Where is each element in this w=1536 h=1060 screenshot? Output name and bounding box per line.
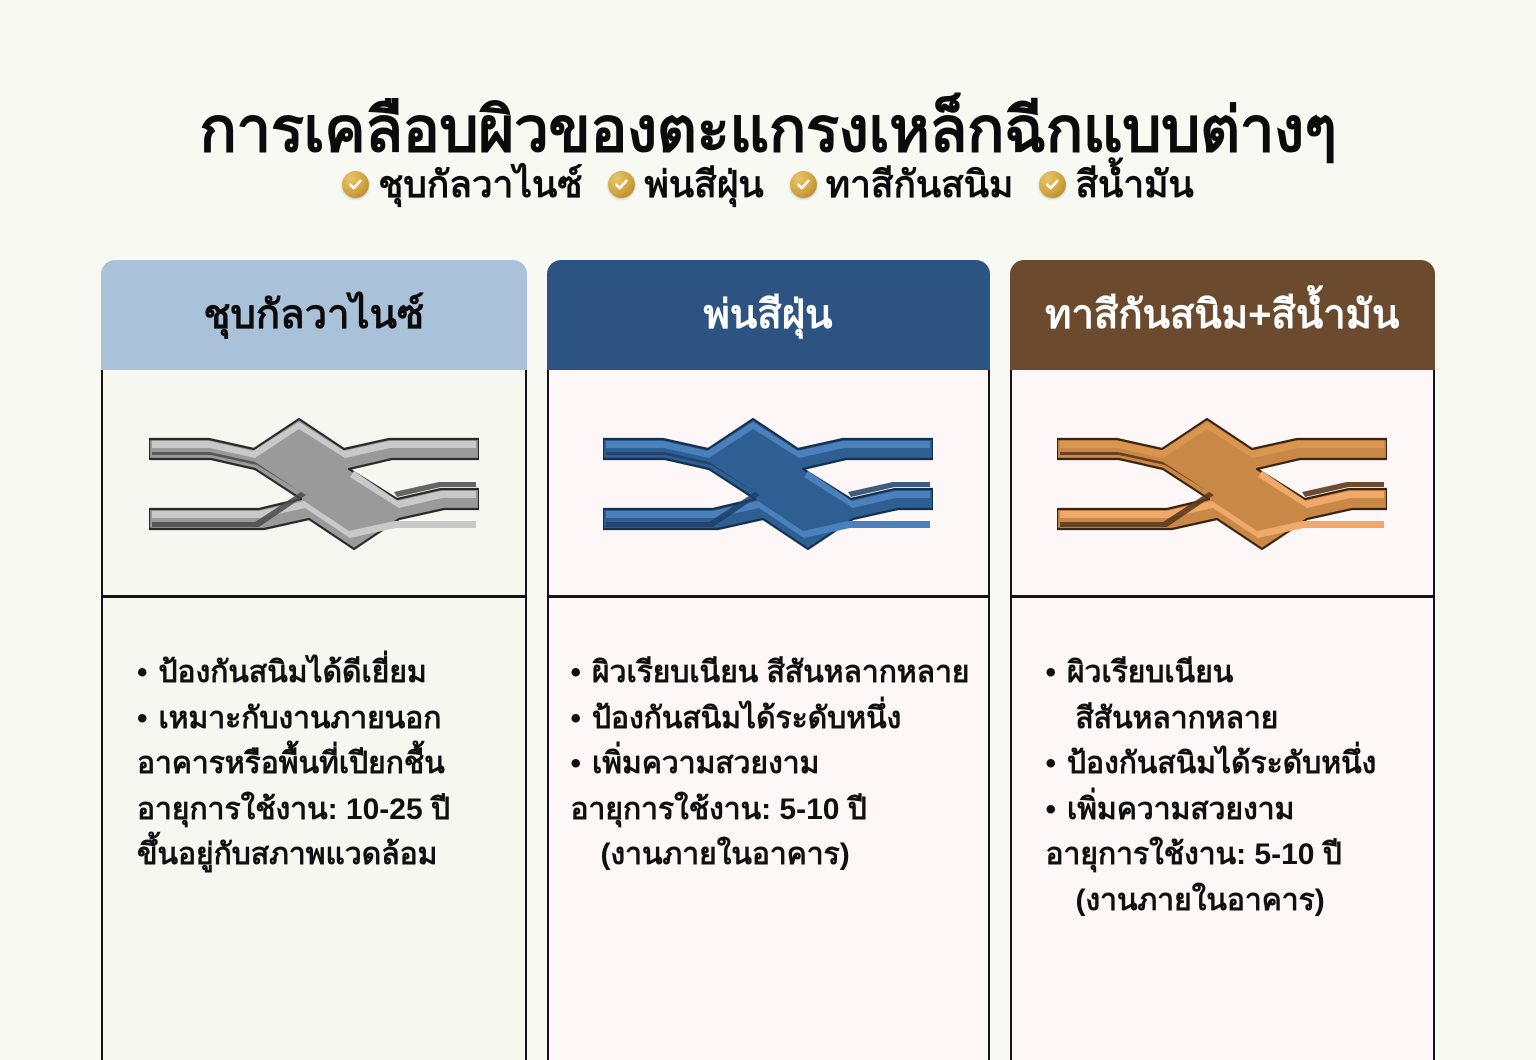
mesh-illustration-pane (1012, 370, 1434, 598)
expanded-metal-mesh-icon (603, 395, 933, 570)
subtitle-chip-label: ชุบกัลวาไนซ์ (378, 166, 582, 203)
subtitle-chip-label: สีน้ำมัน (1075, 166, 1193, 203)
mesh-illustration-pane (103, 370, 525, 598)
subtitle-chip-oil-paint: สีน้ำมัน (1039, 166, 1193, 203)
coating-card-anti-rust-oil-paint[interactable]: ทาสีกันสนิม+สีน้ำมัน (1010, 260, 1436, 1060)
card-text-pane: ผิวเรียบเนียน สีสันหลากหลาย ป้องกันสนิมไ… (549, 598, 988, 1060)
bullet-item: ป้องกันสนิมได้ดีเยี่ยม (137, 650, 507, 696)
lifespan-line: อายุการใช้งาน: 5-10 ปี (571, 787, 970, 833)
expanded-metal-mesh-icon (149, 395, 479, 570)
coating-card-grid: ชุบกัลวาไนซ์ (101, 260, 1435, 1060)
bullet-item: ป้องกันสนิมได้ระดับหนึ่ง (1046, 741, 1416, 787)
expanded-metal-mesh-icon (1057, 395, 1387, 570)
page-title: การเคลือบผิวของตะแกรงเหล็กฉีกแบบต่างๆ (0, 98, 1536, 163)
card-header-title: ทาสีกันสนิม+สีน้ำมัน (1045, 295, 1399, 335)
lifespan-line: อายุการใช้งาน: 10-25 ปี (137, 787, 507, 833)
bullet-item-cont: อาคารหรือพื้นที่เปียกชื้น (137, 741, 507, 787)
bullet-list: ผิวเรียบเนียน สีสันหลากหลาย ป้องกันสนิมไ… (571, 650, 970, 878)
check-circle-icon (1039, 171, 1066, 198)
card-header: ชุบกัลวาไนซ์ (101, 260, 527, 370)
lifespan-note: ขึ้นอยู่กับสภาพแวดล้อม (137, 832, 507, 878)
bullet-item: ผิวเรียบเนียน สีสันหลากหลาย (571, 650, 970, 696)
subtitle-chip-powder-coat: พ่นสีฝุ่น (608, 166, 763, 203)
lifespan-note: (งานภายในอาคาร) (571, 832, 970, 878)
lifespan-note: (งานภายในอาคาร) (1046, 878, 1416, 924)
check-circle-icon (790, 171, 817, 198)
bullet-item: เหมาะกับงานภายนอก (137, 696, 507, 742)
subtitle-chip-label: ทาสีกันสนิม (826, 166, 1014, 203)
card-header: ทาสีกันสนิม+สีน้ำมัน (1010, 260, 1436, 370)
card-header-title: พ่นสีฝุ่น (704, 295, 833, 335)
card-header-title: ชุบกัลวาไนซ์ (203, 295, 424, 335)
bullet-item: เพิ่มความสวยงาม (571, 741, 970, 787)
coating-card-powder-coat[interactable]: พ่นสีฝุ่น (547, 260, 990, 1060)
card-header: พ่นสีฝุ่น (547, 260, 990, 370)
mesh-illustration-pane (549, 370, 988, 598)
card-body: ป้องกันสนิมได้ดีเยี่ยม เหมาะกับงานภายนอก… (101, 370, 527, 1060)
card-body: ผิวเรียบเนียน สีสันหลากหลาย ป้องกันสนิมไ… (547, 370, 990, 1060)
check-circle-icon (608, 171, 635, 198)
card-text-pane: ผิวเรียบเนียน สีสันหลากหลาย ป้องกันสนิมไ… (1012, 598, 1434, 1060)
subtitle-chip-label: พ่นสีฝุ่น (644, 166, 763, 203)
bullet-item: เพิ่มความสวยงาม (1046, 787, 1416, 833)
bullet-item: ผิวเรียบเนียน (1046, 650, 1416, 696)
bullet-item-cont: สีสันหลากหลาย (1046, 696, 1416, 742)
bullet-list: ป้องกันสนิมได้ดีเยี่ยม เหมาะกับงานภายนอก… (137, 650, 507, 878)
lifespan-line: อายุการใช้งาน: 5-10 ปี (1046, 832, 1416, 878)
card-body: ผิวเรียบเนียน สีสันหลากหลาย ป้องกันสนิมไ… (1010, 370, 1436, 1060)
coating-card-galvanize[interactable]: ชุบกัลวาไนซ์ (101, 260, 527, 1060)
bullet-list: ผิวเรียบเนียน สีสันหลากหลาย ป้องกันสนิมไ… (1046, 650, 1416, 924)
subtitle-chip-row: ชุบกัลวาไนซ์ พ่นสีฝุ่น ทาสีกันสนิม สีน้ำ… (0, 166, 1536, 203)
bullet-item: ป้องกันสนิมได้ระดับหนึ่ง (571, 696, 970, 742)
subtitle-chip-anti-rust-paint: ทาสีกันสนิม (790, 166, 1014, 203)
check-circle-icon (342, 171, 369, 198)
card-text-pane: ป้องกันสนิมได้ดีเยี่ยม เหมาะกับงานภายนอก… (103, 598, 525, 1060)
subtitle-chip-galvanize: ชุบกัลวาไนซ์ (342, 166, 582, 203)
